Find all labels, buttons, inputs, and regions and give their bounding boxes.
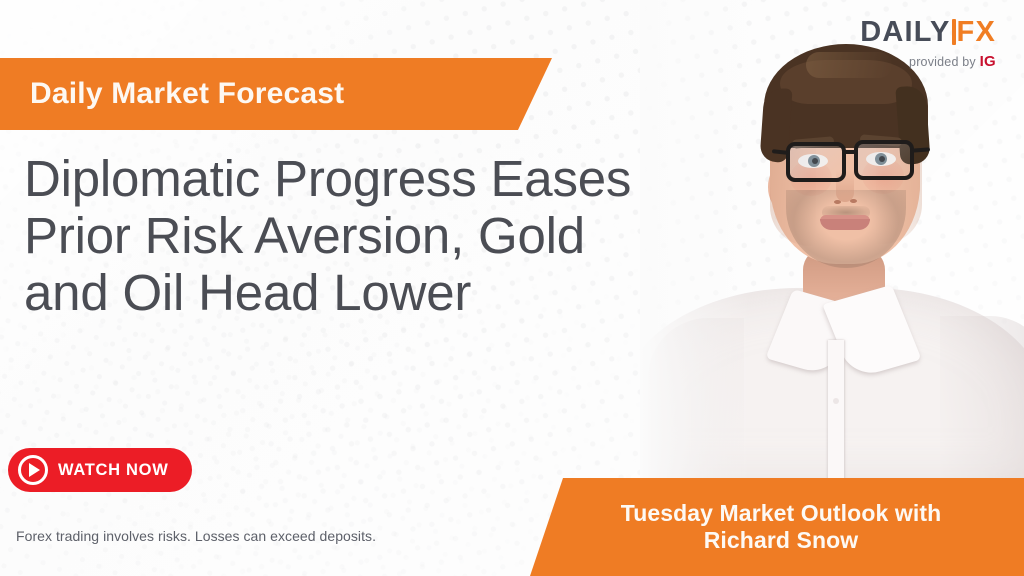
episode-title-line-1: Tuesday Market Outlook with xyxy=(621,500,942,527)
shirt-button xyxy=(833,398,839,404)
category-ribbon: Daily Market Forecast xyxy=(0,58,552,130)
mouth xyxy=(820,219,870,230)
eyeglasses-lens-right xyxy=(854,140,914,180)
episode-ribbon: Tuesday Market Outlook with Richard Snow xyxy=(510,478,1024,576)
play-triangle xyxy=(29,463,40,477)
category-ribbon-label: Daily Market Forecast xyxy=(0,77,344,111)
provided-by-text: provided by xyxy=(909,55,976,69)
shirt-shadow-right xyxy=(940,316,1024,480)
episode-ribbon-inner: Tuesday Market Outlook with Richard Snow xyxy=(621,500,942,554)
logo-wordmark: DAILYFX xyxy=(860,18,996,47)
logo-accent-bar xyxy=(952,19,956,45)
ig-brand-text: IG xyxy=(980,53,996,70)
video-thumbnail-card: DAILYFX provided by IG Daily Market Fore… xyxy=(0,0,1024,576)
headline-line-1: Diplomatic Progress Eases xyxy=(24,150,744,207)
headline-line-3: and Oil Head Lower xyxy=(24,264,744,321)
shirt-placket xyxy=(828,340,844,480)
risk-disclaimer: Forex trading involves risks. Losses can… xyxy=(16,528,376,544)
headline-line-2: Prior Risk Aversion, Gold xyxy=(24,207,744,264)
logo-fx-text: FX xyxy=(957,16,996,48)
logo-subline: provided by IG xyxy=(860,54,996,69)
play-icon xyxy=(18,455,48,485)
eyeglasses-lens-left xyxy=(786,142,846,182)
watch-now-button[interactable]: WATCH NOW xyxy=(8,448,192,492)
eyeglasses-bridge xyxy=(844,150,858,154)
nostril-left xyxy=(834,200,841,204)
dailyfx-logo[interactable]: DAILYFX provided by IG xyxy=(860,18,996,69)
shirt-shadow-left xyxy=(648,318,744,480)
watch-now-label: WATCH NOW xyxy=(58,461,168,480)
page-title: Diplomatic Progress Eases Prior Risk Ave… xyxy=(24,150,744,321)
logo-daily-text: DAILY xyxy=(860,16,950,48)
nostril-right xyxy=(850,199,857,203)
episode-title-line-2: Richard Snow xyxy=(621,527,942,554)
